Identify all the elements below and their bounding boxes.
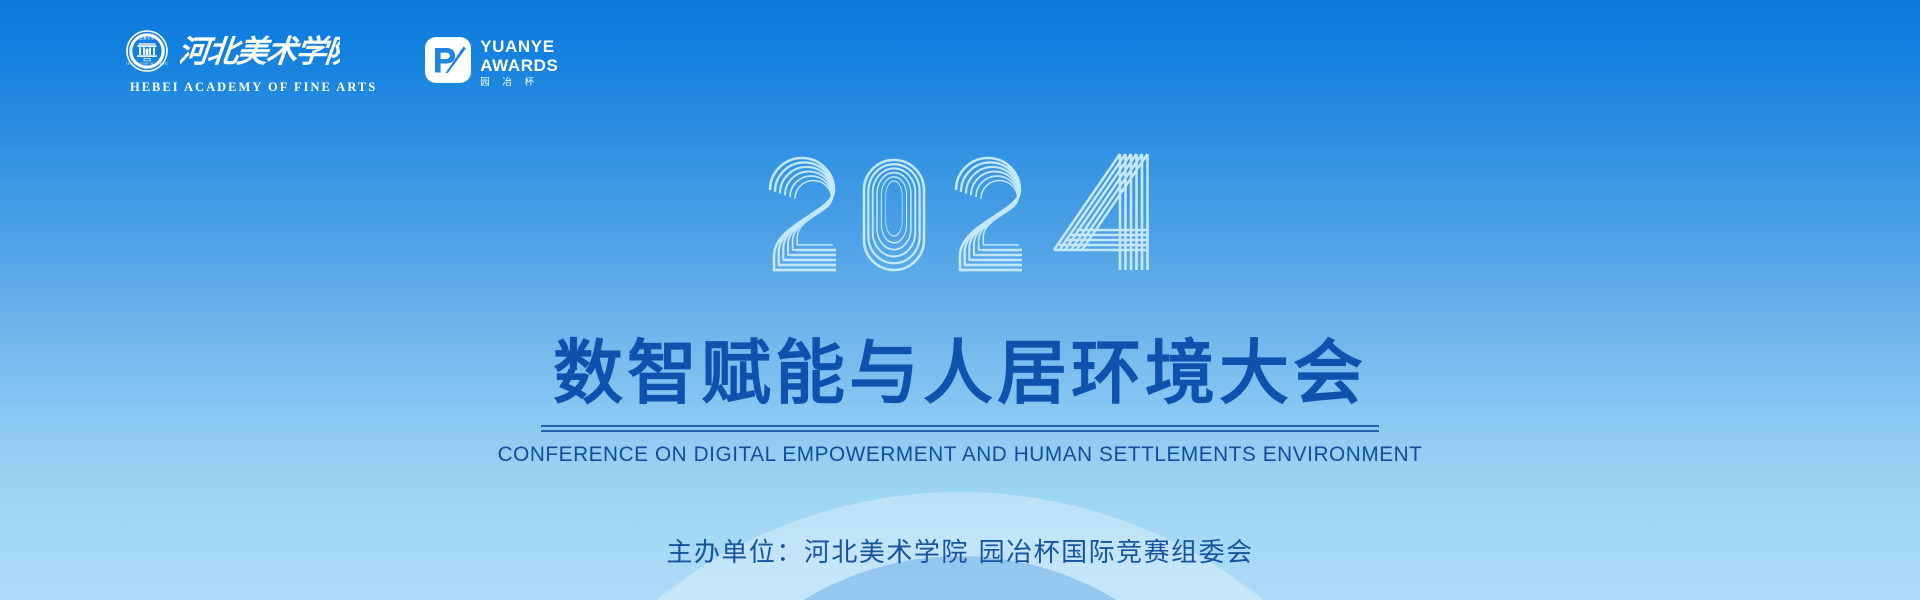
conference-banner: 河北美术学院 HEBEI ACADEMY OF FINE ARTS 河北美术学院… (0, 0, 1920, 600)
yuanye-awards-wordmark: YUANYE AWARDS 园 冶 杯 (480, 38, 558, 88)
title-divider-line-top (541, 425, 1379, 427)
hebei-academy-name-cn: 河北美术学院 (180, 31, 340, 76)
svg-text:河北美术学院: 河北美术学院 (135, 36, 158, 41)
svg-text:HEBEI ACADEMY OF FINE ARTS: HEBEI ACADEMY OF FINE ARTS (126, 63, 168, 66)
hebei-logo-row: 河北美术学院 HEBEI ACADEMY OF FINE ARTS 河北美术学院 (126, 30, 340, 77)
title-divider (541, 425, 1379, 432)
hebei-academy-name-en: HEBEI ACADEMY OF FINE ARTS (88, 80, 377, 95)
logo-bar: 河北美术学院 HEBEI ACADEMY OF FINE ARTS 河北美术学院… (88, 30, 558, 95)
yuanye-awards-mark-icon (425, 37, 471, 88)
year-graphic-2024 (760, 136, 1160, 292)
title-block: 数智赋能与人居环境大会 CONFERENCE ON DIGITAL EMPOWE… (0, 338, 1920, 467)
page-title-en: CONFERENCE ON DIGITAL EMPOWERMENT AND HU… (34, 442, 1887, 467)
yuanye-line-3: 园 冶 杯 (480, 78, 558, 88)
yuanye-line-1: YUANYE (480, 38, 558, 55)
yuanye-awards-logo[interactable]: YUANYE AWARDS 园 冶 杯 (425, 37, 558, 88)
svg-text:河北美术学院: 河北美术学院 (180, 34, 340, 70)
page-title-cn: 数智赋能与人居环境大会 (0, 338, 1920, 408)
organizer-line: 主办单位：河北美术学院 园冶杯国际竞赛组委会 (0, 532, 1920, 569)
title-divider-line-bottom (541, 430, 1379, 432)
yuanye-line-2: AWARDS (480, 57, 558, 74)
hebei-academy-seal-icon: 河北美术学院 HEBEI ACADEMY OF FINE ARTS (126, 30, 168, 77)
hebei-academy-logo[interactable]: 河北美术学院 HEBEI ACADEMY OF FINE ARTS 河北美术学院… (88, 30, 377, 95)
